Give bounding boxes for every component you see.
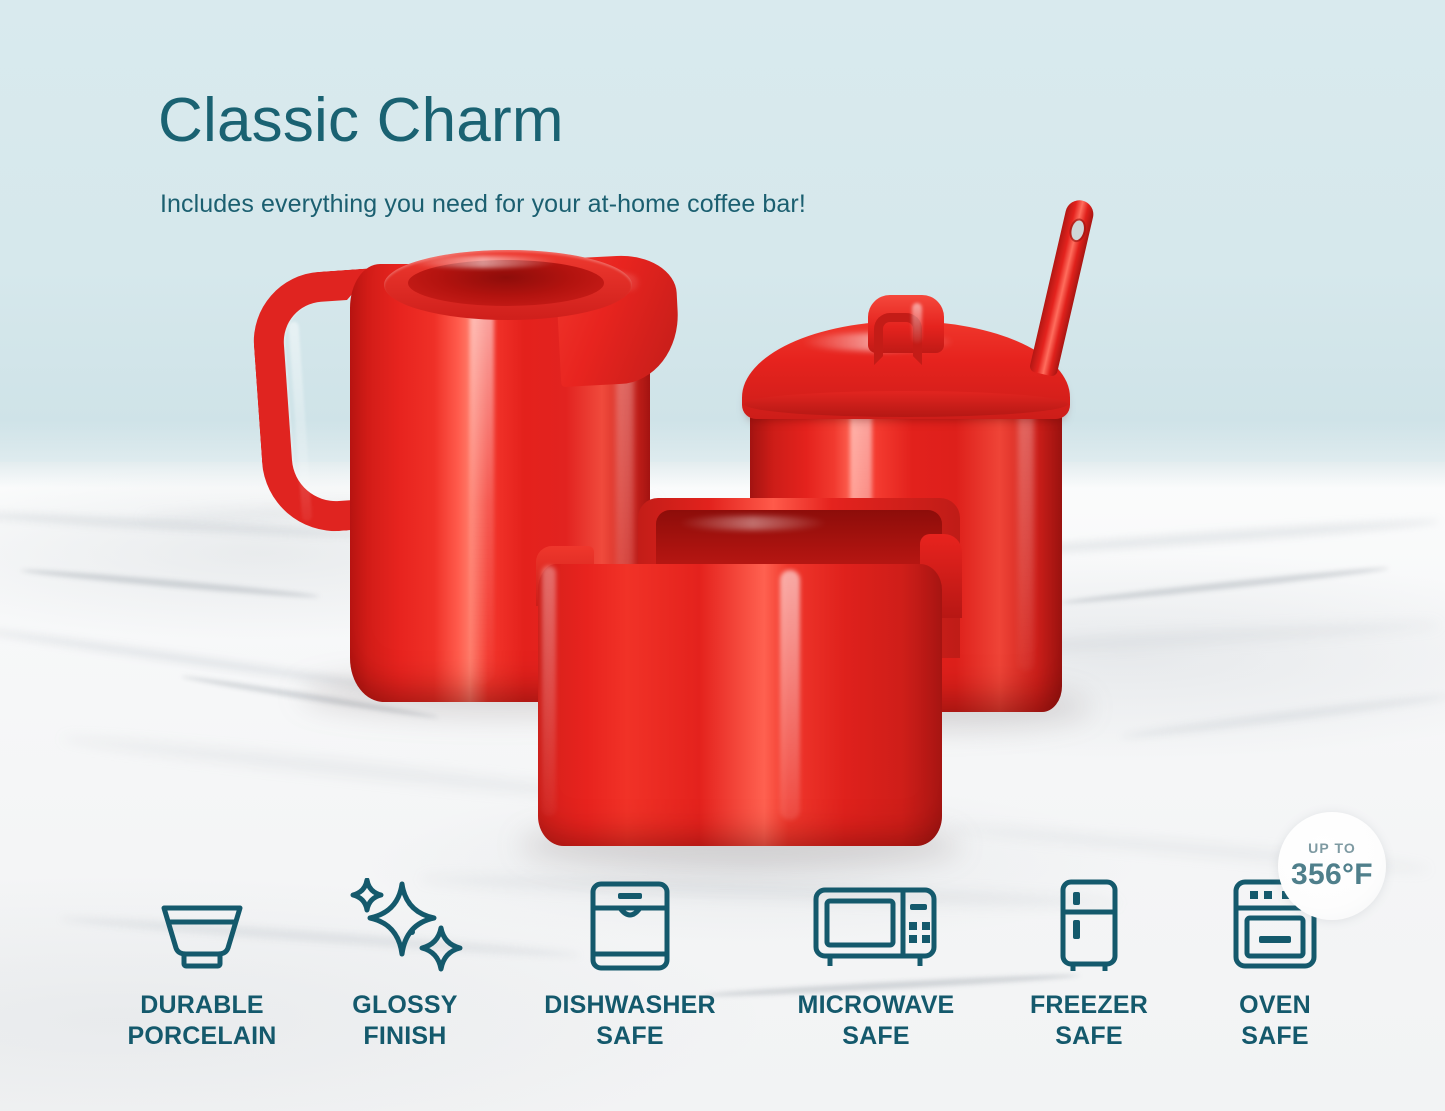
caddy-front-wall: [538, 564, 942, 846]
feature-label: GLOSSY FINISH: [352, 990, 457, 1052]
sugar-bowl-lid-lip: [744, 391, 1068, 417]
product-photo-group: [0, 0, 1445, 900]
feature-label: FREEZER SAFE: [1030, 990, 1148, 1052]
microwave-icon: [810, 878, 942, 974]
feature-microwave-safe: MICROWAVE SAFE: [776, 878, 976, 1052]
feature-dishwasher-safe: DISHWASHER SAFE: [520, 878, 740, 1052]
feature-row: DURABLE PORCELAIN GLOSSY FINISH: [0, 878, 1445, 1083]
sugar-bowl-lid-knob: [868, 295, 944, 353]
bowl-icon: [154, 878, 250, 974]
dishwasher-icon: [585, 878, 675, 974]
caddy-front-highlight: [780, 570, 800, 820]
sugar-packet-caddy: [528, 498, 978, 858]
temperature-badge: UP TO 356°F: [1278, 812, 1386, 920]
pitcher-rim-highlight: [408, 256, 558, 268]
feature-durable-porcelain: DURABLE PORCELAIN: [112, 878, 292, 1052]
feature-glossy-finish: GLOSSY FINISH: [330, 878, 480, 1052]
feature-label: DISHWASHER SAFE: [544, 990, 715, 1052]
temperature-badge-value: 356°F: [1291, 858, 1373, 892]
feature-label: OVEN SAFE: [1239, 990, 1311, 1052]
product-infographic: Classic Charm Includes everything you ne…: [0, 0, 1445, 1111]
feature-label: MICROWAVE SAFE: [798, 990, 955, 1052]
freezer-icon: [1049, 878, 1129, 974]
feature-label: DURABLE PORCELAIN: [127, 990, 276, 1052]
temperature-badge-prefix: UP TO: [1308, 840, 1356, 856]
caddy-left-highlight: [542, 566, 556, 816]
sparkles-icon: [340, 878, 470, 974]
feature-freezer-safe: FREEZER SAFE: [1008, 878, 1170, 1052]
